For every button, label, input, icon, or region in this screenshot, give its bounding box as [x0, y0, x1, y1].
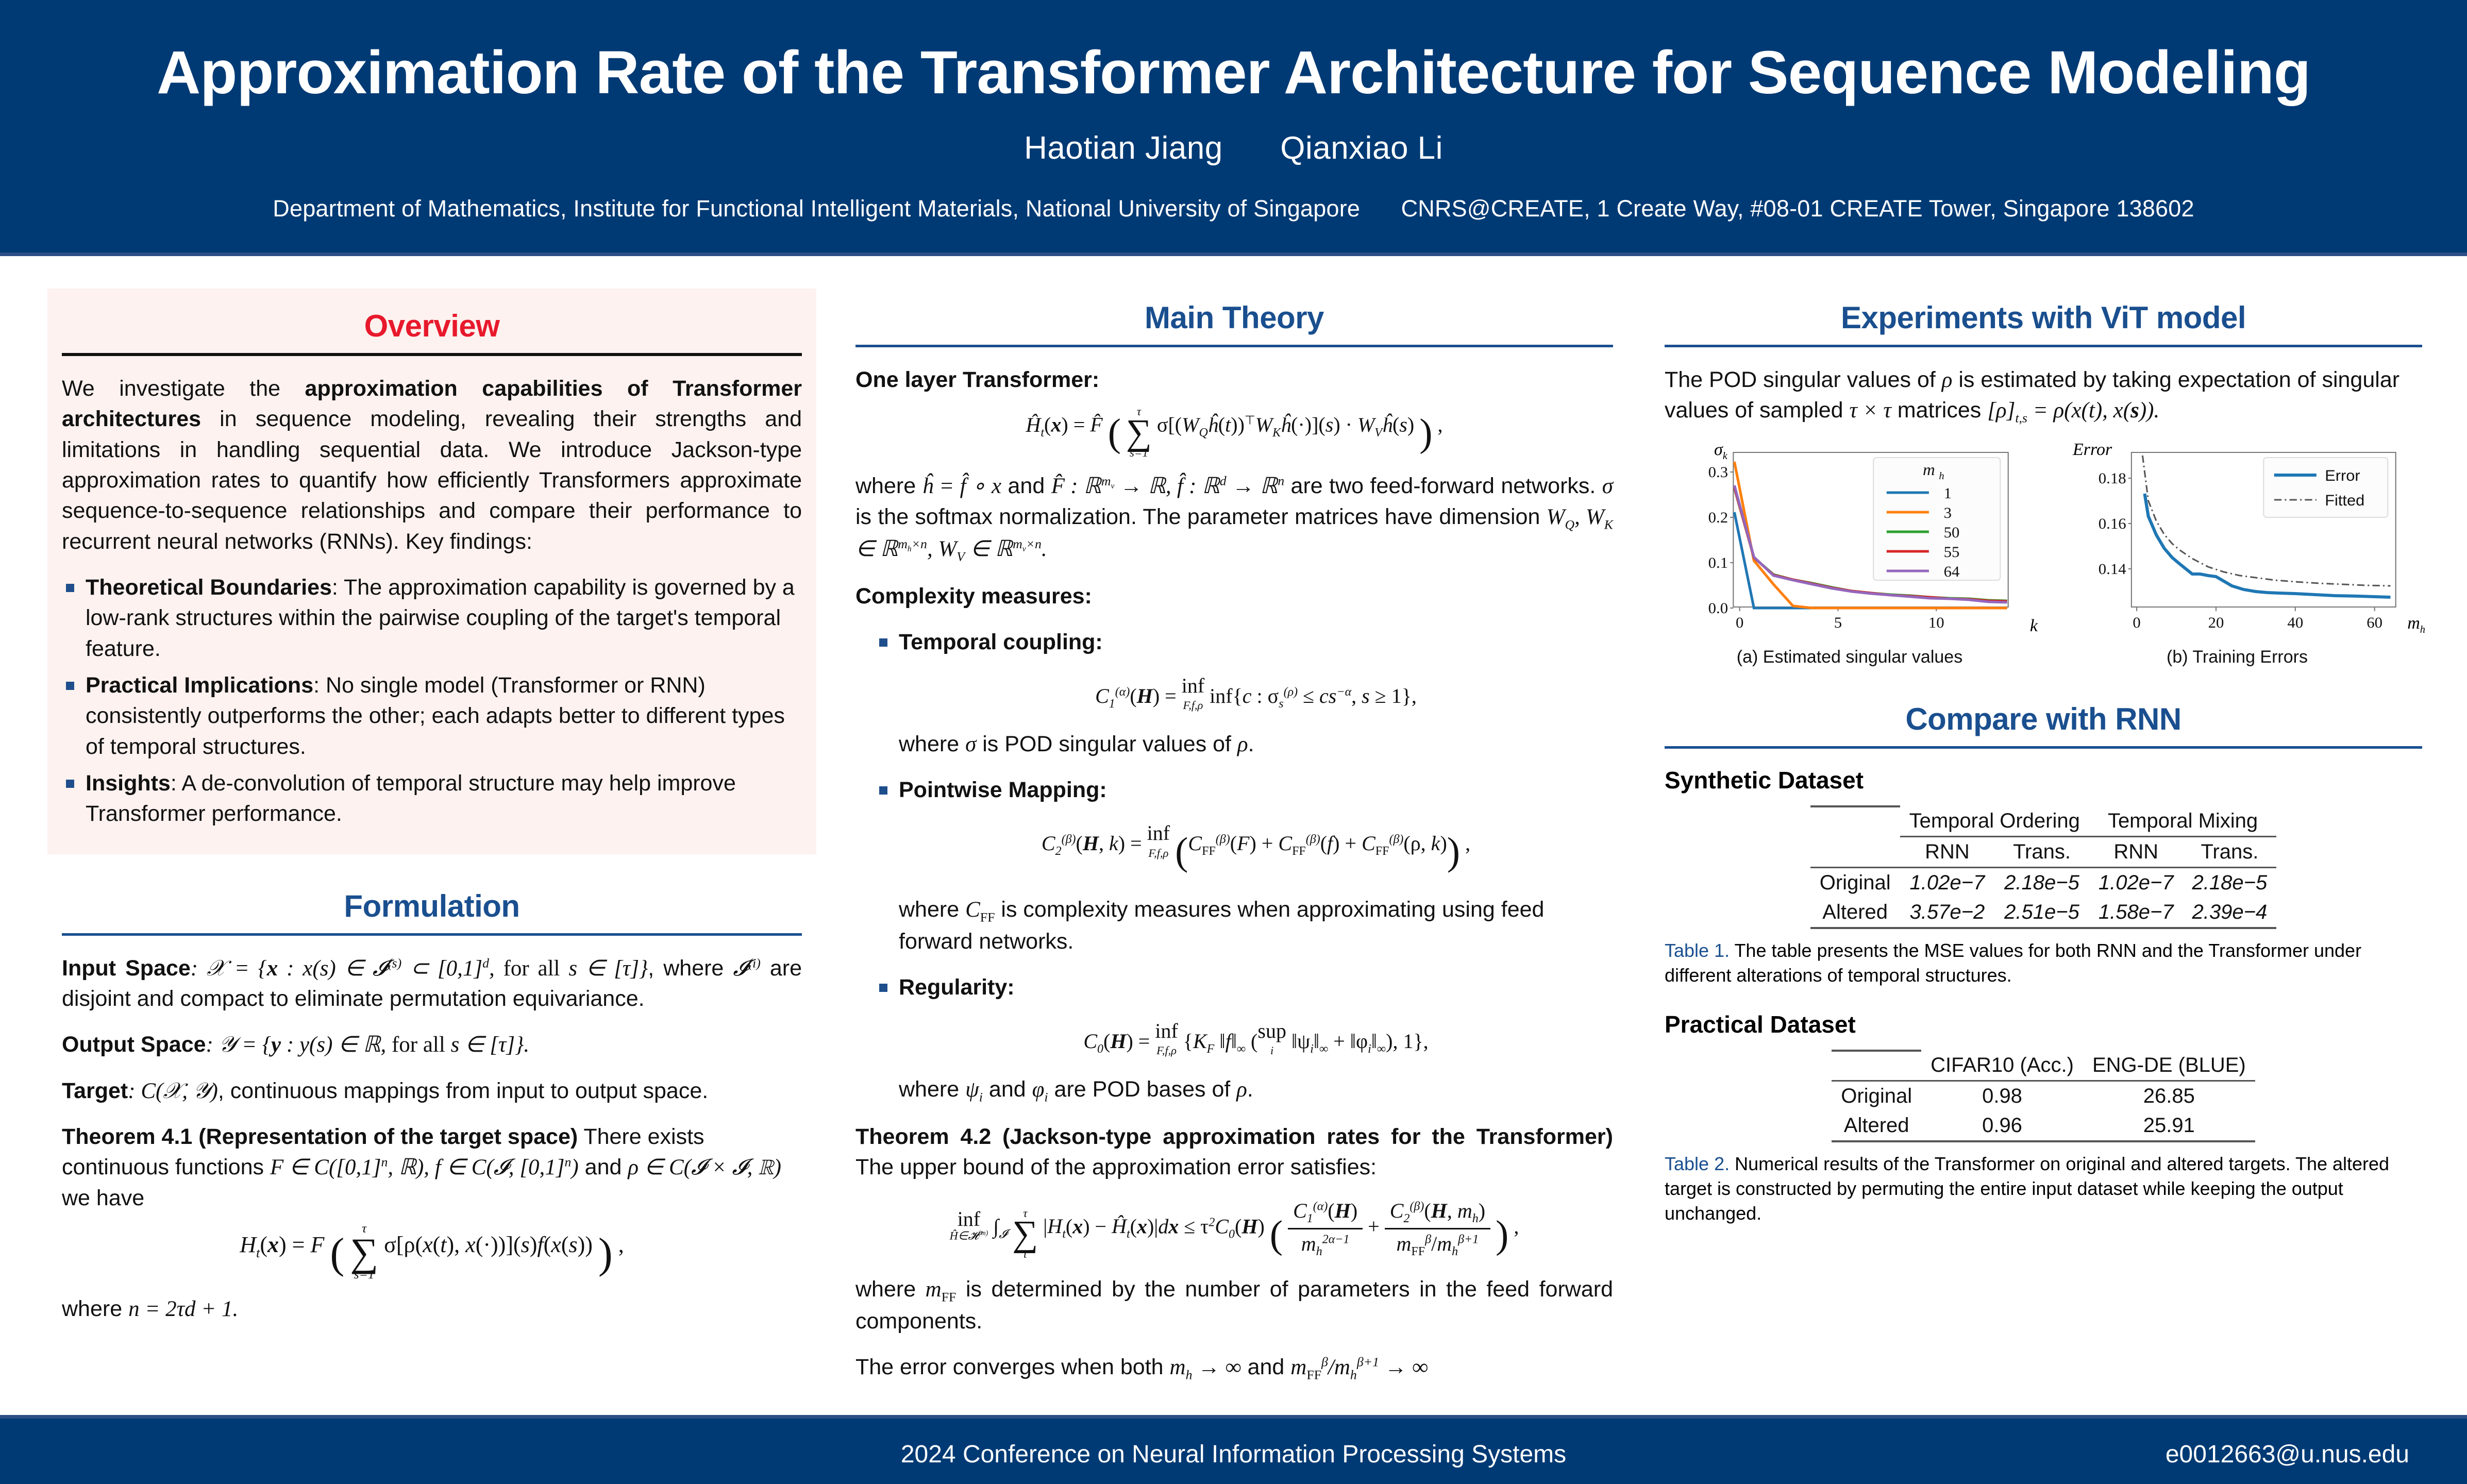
svg-text:0.1: 0.1: [1708, 554, 1728, 571]
row-label-altered: Altered: [1810, 898, 1900, 928]
col-header-trans-ordering: Trans.: [1994, 836, 2089, 867]
list-item: Temporal coupling: C1(α)(H) = infF,f,ρ i…: [875, 627, 1613, 760]
cell-value: 2.18e−5: [2183, 867, 2277, 898]
svg-text:60: 60: [2367, 614, 2382, 631]
main-theory-title: Main Theory: [855, 289, 1613, 345]
author-list: Haotian Jiang Qianxiao Li: [0, 103, 2467, 166]
bullet-label: Temporal coupling:: [899, 630, 1103, 654]
bullet-label: Insights: [86, 771, 171, 796]
list-item: Regularity: C0(H) = infF,f,ρ {KF ‖f‖∞ (s…: [875, 972, 1613, 1106]
list-item: Pointwise Mapping: C2(β)(H, k) = infF,f,…: [875, 775, 1613, 957]
empty-corner-cell: [1810, 806, 1900, 837]
where-mff-body: is determined by the number of parameter…: [855, 1277, 1613, 1334]
output-space-paragraph: Output Space: 𝒴 = {y : y(s) ∈ ℝ, for all…: [62, 1030, 802, 1060]
poster-footer: 2024 Conference on Neural Information Pr…: [0, 1415, 2467, 1484]
target-formula: : C(𝒳, 𝒴): [128, 1079, 218, 1103]
theorem42-equation: infĤ∈𝓗(m) ∫𝓘 ∑τt |Ht(x) − Ĥt(x)|dx ≤ τ2C…: [855, 1199, 1613, 1259]
where-mff-text: where mFF is determined by the number of…: [855, 1274, 1613, 1337]
output-space-label: Output Space: [62, 1032, 206, 1057]
svg-text:Error: Error: [2325, 467, 2360, 484]
empty-corner-cell: [1832, 1051, 1921, 1081]
row-label-altered: Altered: [1832, 1111, 1921, 1141]
experiments-section: Experiments with ViT model The POD singu…: [1665, 289, 2422, 667]
svg-text:20: 20: [2208, 614, 2224, 631]
table-row: Altered 3.57e−2 2.51e−5 1.58e−7 2.39e−4: [1810, 898, 2277, 928]
affiliation-line: Department of Mathematics, Institute for…: [0, 166, 2467, 222]
col-header-rnn-ordering: RNN: [1900, 836, 1995, 867]
overview-title: Overview: [62, 297, 802, 353]
target-text: , continuous mappings from input to outp…: [218, 1078, 708, 1103]
list-item: Theoretical Boundaries: The approximatio…: [62, 572, 802, 664]
input-space-formula: : 𝒳 = {x : x(s) ∈ 𝓘(s) ⊂ [0,1]d, for all…: [191, 956, 648, 981]
column-right: Experiments with ViT model The POD singu…: [1665, 289, 2422, 1249]
table-row: Temporal Ordering Temporal Mixing: [1810, 806, 2277, 837]
cell-value: 1.02e−7: [1900, 867, 1995, 898]
svg-text:1: 1: [1944, 484, 1952, 502]
poster-title: Approximation Rate of the Transformer Ar…: [0, 0, 2467, 103]
table1-caption: Table 1. The table presents the MSE valu…: [1665, 938, 2422, 988]
table-row: Original 0.98 26.85: [1832, 1081, 2255, 1111]
cell-value: 1.58e−7: [2089, 898, 2183, 928]
complexity-label-text: Complexity measures:: [855, 584, 1092, 609]
plot-b-wrap: Error mh 0.14 0.16 0.18: [2052, 443, 2422, 639]
theorem41-paragraph: Theorem 4.1 (Representation of the targe…: [62, 1122, 802, 1213]
figure-row: σk k 0.0 0.1 0.2 0.3: [1665, 443, 2422, 667]
theorem42-label: Theorem 4.2 (Jackson-type approximation …: [855, 1124, 1613, 1149]
bullet-label: Regularity:: [899, 975, 1015, 1000]
formulation-section: Formulation Input Space: 𝒳 = {x : x(s) ∈…: [62, 877, 802, 1325]
row-label-original: Original: [1832, 1081, 1921, 1111]
converge-body: The error converges when both: [855, 1355, 1164, 1379]
synthetic-dataset-heading: Synthetic Dataset: [1665, 766, 2422, 794]
cell-value: 1.02e−7: [2089, 867, 2183, 898]
table-row: Original 1.02e−7 2.18e−5 1.02e−7 2.18e−5: [1810, 867, 2277, 898]
svg-text:m: m: [1923, 461, 1935, 479]
compare-section: Compare with RNN Synthetic Dataset Tempo…: [1665, 690, 2422, 1226]
col-header-rnn-mixing: RNN: [2089, 836, 2183, 867]
col-header-cifar10: CIFAR10 (Acc.): [1921, 1051, 2083, 1081]
table1-caption-lead: Table 1.: [1665, 940, 1730, 961]
overview-bullet-list: Theoretical Boundaries: The approximatio…: [62, 572, 802, 830]
main-theory-section: Main Theory One layer Transformer: Ĥt(x)…: [855, 289, 1613, 1384]
pointwise-mapping-equation: C2(β)(H, k) = infF,f,ρ (CFF(β)(F) + CFF(…: [899, 819, 1613, 879]
list-item: Practical Implications: No single model …: [62, 670, 802, 762]
overview-divider: [62, 353, 802, 356]
one-layer-label-text: One layer Transformer:: [855, 367, 1099, 392]
figure-a-caption: (a) Estimated singular values: [1665, 647, 2035, 667]
synthetic-results-table: Temporal Ordering Temporal Mixing RNN Tr…: [1810, 805, 2277, 929]
input-space-paragraph: Input Space: 𝒳 = {x : x(s) ∈ 𝓘(s) ⊂ [0,1…: [62, 953, 802, 1015]
table1-caption-body: The table presents the MSE values for bo…: [1665, 940, 2361, 986]
target-label: Target: [62, 1078, 128, 1103]
svg-text:40: 40: [2287, 614, 2303, 631]
theorem41-equation: Ht(x) = F ( ∑τs=1 σ[ρ(x(t), x(·))](s)f(x…: [62, 1229, 802, 1278]
cell-value: 26.85: [2083, 1081, 2255, 1111]
column-middle: Main Theory One layer Transformer: Ĥt(x)…: [855, 289, 1613, 1407]
footer-conference: 2024 Conference on Neural Information Pr…: [0, 1440, 2467, 1469]
input-space-label: Input Space: [62, 956, 191, 981]
transformer-equation: Ĥt(x) = F̂ ( ∑τs=1 σ[(WQĥ(t))⊤WKĥ(·)](s)…: [855, 411, 1613, 456]
plot-a-ylabel: σk: [1714, 440, 1727, 462]
bullet-label: Theoretical Boundaries: [86, 575, 332, 600]
svg-text:5: 5: [1834, 614, 1842, 631]
cell-value: 2.39e−4: [2183, 898, 2277, 928]
converge-text: The error converges when both mh → ∞ and…: [855, 1352, 1613, 1384]
formulation-divider: [62, 933, 802, 936]
one-layer-label: One layer Transformer:: [855, 365, 1613, 395]
svg-text:0: 0: [1736, 614, 1743, 631]
where-n-text: where n = 2τd + 1.: [62, 1294, 802, 1324]
list-item: Insights: A de-convolution of temporal s…: [62, 768, 802, 830]
figure-b: Error mh 0.14 0.16 0.18: [2052, 443, 2422, 667]
experiments-divider: [1665, 345, 2422, 347]
svg-text:10: 10: [1928, 614, 1944, 631]
cell-value: 2.18e−5: [1994, 867, 2089, 898]
svg-text:0: 0: [2133, 614, 2140, 631]
empty-corner-cell: [1810, 836, 1900, 867]
bullet-note: where CFF is complexity measures when ap…: [899, 895, 1613, 957]
cell-value: 3.57e−2: [1900, 898, 1995, 928]
bullet-label: Practical Implications: [86, 673, 313, 698]
practical-results-table: CIFAR10 (Acc.) ENG-DE (BLUE) Original 0.…: [1832, 1050, 2255, 1142]
figure-a: σk k 0.0 0.1 0.2 0.3: [1665, 443, 2035, 667]
svg-text:h: h: [1939, 470, 1944, 482]
cell-value: 0.96: [1921, 1111, 2083, 1141]
column-left: Overview We investigate the approximatio…: [62, 289, 802, 1347]
output-space-formula: : 𝒴 = {y : y(s) ∈ ℝ, for all s ∈ [τ]}.: [206, 1033, 530, 1057]
table2-caption-body: Numerical results of the Transformer on …: [1665, 1153, 2389, 1224]
theorem42-text: The upper bound of the approximation err…: [855, 1155, 1377, 1179]
overview-section: Overview We investigate the approximatio…: [47, 289, 816, 854]
bullet-label: Pointwise Mapping:: [899, 778, 1107, 802]
row-label-original: Original: [1810, 867, 1900, 898]
compare-title: Compare with RNN: [1665, 690, 2422, 746]
author-1: Haotian Jiang: [1024, 130, 1223, 166]
affiliation-2: CNRS@CREATE, 1 Create Way, #08-01 CREATE…: [1401, 195, 2194, 222]
table-row: CIFAR10 (Acc.) ENG-DE (BLUE): [1832, 1051, 2255, 1081]
svg-text:0.2: 0.2: [1708, 509, 1728, 526]
group-header-temporal-mixing: Temporal Mixing: [2089, 806, 2276, 837]
footer-email[interactable]: e0012663@u.nus.edu: [2166, 1440, 2409, 1469]
figure-b-caption: (b) Training Errors: [2052, 647, 2422, 667]
cell-value: 0.98: [1921, 1081, 2083, 1111]
plot-b-xlabel: mh: [2407, 614, 2425, 636]
overview-paragraph: We investigate the approximation capabil…: [62, 374, 802, 557]
col-header-trans-mixing: Trans.: [2183, 836, 2277, 867]
svg-text:0.18: 0.18: [2099, 469, 2126, 487]
svg-text:0.0: 0.0: [1708, 599, 1728, 617]
bullet-note: where σ is POD singular values of ρ.: [899, 729, 1613, 760]
plot-a-svg: 0.0 0.1 0.2 0.3: [1665, 443, 2035, 639]
svg-text:0.3: 0.3: [1708, 463, 1728, 481]
poster-root: Approximation Rate of the Transformer Ar…: [0, 0, 2467, 1484]
poster-header-banner: Approximation Rate of the Transformer Ar…: [0, 0, 2467, 256]
complexity-label: Complexity measures:: [855, 581, 1613, 612]
experiments-intro: The POD singular values of ρ is estimate…: [1665, 365, 2422, 428]
svg-text:Fitted: Fitted: [2325, 492, 2364, 509]
table2-caption: Table 2. Numerical results of the Transf…: [1665, 1152, 2422, 1226]
theorem41-label: Theorem 4.1 (Representation of the targe…: [62, 1124, 578, 1149]
overview-text-a: We investigate the: [62, 376, 305, 401]
complexity-bullet-list: Temporal coupling: C1(α)(H) = infF,f,ρ i…: [875, 627, 1613, 1106]
svg-text:55: 55: [1944, 543, 1960, 561]
practical-dataset-heading: Practical Dataset: [1665, 1010, 2422, 1038]
plot-a-xlabel: k: [2030, 616, 2038, 636]
svg-text:0.16: 0.16: [2099, 515, 2126, 532]
col-header-engde: ENG-DE (BLUE): [2083, 1051, 2255, 1081]
target-paragraph: Target: C(𝒳, 𝒴), continuous mappings fro…: [62, 1076, 802, 1106]
temporal-coupling-equation: C1(α)(H) = infF,f,ρ inf{c : σs(ρ) ≤ cs−α…: [899, 671, 1613, 714]
author-2: Qianxiao Li: [1280, 130, 1443, 166]
group-header-temporal-ordering: Temporal Ordering: [1900, 806, 2089, 837]
plot-a-wrap: σk k 0.0 0.1 0.2 0.3: [1665, 443, 2035, 639]
table-row: RNN Trans. RNN Trans.: [1810, 836, 2277, 867]
svg-text:50: 50: [1944, 524, 1960, 541]
bullet-note: where ψi and φi are POD bases of ρ.: [899, 1074, 1613, 1106]
cell-value: 25.91: [2083, 1111, 2255, 1141]
svg-text:0.14: 0.14: [2099, 560, 2126, 578]
transformer-where-text: where ĥ = f̂ ∘ x and F̂ : ℝmv → ℝ, f̂ : …: [855, 471, 1613, 566]
bullet-text: : A de-convolution of temporal structure…: [86, 771, 736, 826]
svg-text:64: 64: [1944, 563, 1960, 580]
theorem42-paragraph: Theorem 4.2 (Jackson-type approximation …: [855, 1122, 1613, 1183]
svg-text:3: 3: [1944, 504, 1952, 521]
formulation-title: Formulation: [62, 877, 802, 933]
plot-b-svg: 0.14 0.16 0.18: [2052, 443, 2422, 639]
cell-value: 2.51e−5: [1994, 898, 2089, 928]
plot-b-ylabel: Error: [2073, 440, 2112, 460]
table-row: Altered 0.96 25.91: [1832, 1111, 2255, 1141]
table2-caption-lead: Table 2.: [1665, 1153, 1730, 1174]
compare-divider: [1665, 746, 2422, 749]
regularity-equation: C0(H) = infF,f,ρ {KF ‖f‖∞ (supi ‖ψi‖∞ + …: [899, 1017, 1613, 1059]
experiments-title: Experiments with ViT model: [1665, 289, 2422, 345]
main-theory-divider: [855, 345, 1613, 347]
affiliation-1: Department of Mathematics, Institute for…: [273, 195, 1360, 222]
